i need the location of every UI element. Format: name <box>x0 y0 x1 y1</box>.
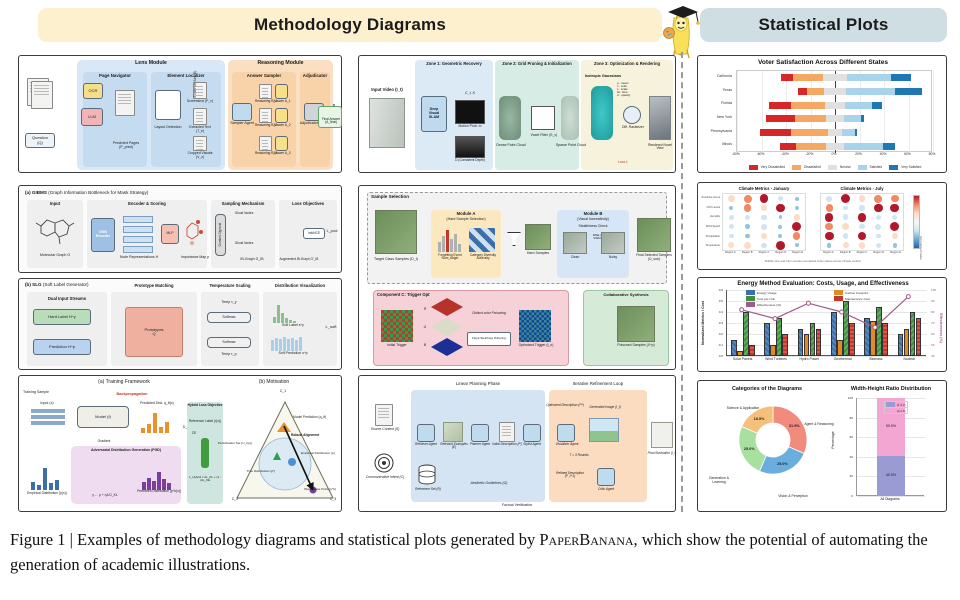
node-retriever-agent <box>417 424 435 442</box>
node-label-node-representations: Node Representations H <box>117 256 161 260</box>
matrix-bubble <box>778 196 783 201</box>
chart-ytick-label: 0.6 <box>719 288 723 292</box>
node-label-optimized-trigger: Optimized Trigger (t_o) <box>515 344 557 348</box>
node-label-camera-intrinsics: C_t, K <box>453 92 487 96</box>
node-diff-rasterizer <box>623 106 641 124</box>
node-label-dense-point-cloud: Dense Point Cloud <box>495 144 527 148</box>
chart-xtick-label: Region D <box>772 251 789 254</box>
matrix-bubble <box>827 243 832 248</box>
gridline <box>884 71 885 153</box>
node-representations-icon <box>123 216 153 254</box>
chart-title-climate-july: Climate Metrics - July <box>818 186 906 191</box>
legend-swatch <box>828 165 837 170</box>
matrix-bubble <box>892 215 897 220</box>
initial-description-icon <box>499 422 515 442</box>
module-b-item-noisy: Noisy <box>599 256 627 259</box>
chart-ylabel-ratio: Percentage <box>832 413 836 467</box>
label-hybrid-loss-objective: Hybrid Loss Objective <box>187 404 223 407</box>
module-b-subtitle: (Visual Insensitivity) <box>557 218 629 222</box>
table-row <box>845 102 872 109</box>
chart-legend-energy: Energy UsageCarbon FootprintCost per Uni… <box>746 290 916 304</box>
matrix-bubble <box>728 242 734 248</box>
node-reasoning-3-icon <box>259 136 272 151</box>
bar-value-label: 59.5% <box>877 424 904 428</box>
node-label-target-class-samples: Target Class Samples (D_t) <box>369 258 423 262</box>
chart-ytick-label: 0.2 <box>719 332 723 336</box>
matrix-bubble <box>876 215 881 220</box>
chart-panel-voter-satisfaction: Voter Satisfaction Across Different Stat… <box>697 55 947 173</box>
chart-title-ratio: Width-Height Ratio Distribution <box>836 386 946 392</box>
node-label-loss-soft: L_soft <box>321 325 341 329</box>
legend-label: Very Satisfied <box>901 165 921 169</box>
simplex-label-empirical-distribution: Empirical Distribution (p) <box>301 452 342 455</box>
chart-xtick-label: Nuclear <box>893 357 926 366</box>
soft-prediction-histogram-icon <box>269 331 317 351</box>
gridline <box>811 71 812 153</box>
chart-xtick-label: Solar Panels <box>726 357 759 366</box>
diagram-panel-final-answer-box: Final Answer (A_final) <box>318 106 342 128</box>
module-a-item-diversity: Category Diversity Adversity <box>467 254 499 261</box>
matrix-bubble <box>793 232 800 239</box>
reference-set-db-icon <box>417 464 437 486</box>
legend-swatch <box>834 290 843 295</box>
legend-label: Neutral <box>840 165 851 169</box>
matrix-bubble <box>874 204 882 212</box>
node-label-diff-rasterizer: Diff. Rasterizer <box>617 126 649 129</box>
node-answer-2 <box>275 108 288 123</box>
matrix-bubble <box>761 205 767 211</box>
chart-xtick-label: Region C <box>756 251 773 254</box>
perturbed-distribution-histogram-icon <box>141 468 177 490</box>
node-prototypes: PrototypesQ <box>125 307 183 357</box>
chart-ylabels-voter: CaliforniaTexasFloridaNew YorkPennsylvan… <box>698 70 734 152</box>
subzone-label-answer-sampler: Answer Sampler <box>232 74 296 79</box>
gridline <box>737 71 738 153</box>
matrix-bubble <box>776 204 785 213</box>
subzone-label-adjudicator: Adjudicator <box>298 74 332 79</box>
matrix-bubble <box>842 223 849 230</box>
node-label-voxel-filter: Voxel Filter (S_v) <box>527 134 561 138</box>
node-label-final-selected-samples: Final Selected Samples (D_sub) <box>631 254 676 261</box>
node-label-cropped-visuals: Cropped Visuals (V_c) <box>185 152 215 159</box>
table-row <box>828 129 843 136</box>
legend-item: Carbon Footprint <box>834 290 868 295</box>
legend-label: Satisfied <box>870 165 883 169</box>
chart-ytick-label: Pennsylvania <box>711 129 732 133</box>
chart-xlabels-voter: -80%-60%-40%-20%0%20%40%60%80% <box>736 152 932 162</box>
legend-label: Carbon Footprint <box>845 291 868 295</box>
pie-value-label: 18.5% <box>745 417 773 421</box>
matrix-bubble <box>876 243 882 249</box>
label-gradient: Gradient <box>91 440 117 443</box>
node-answer-1 <box>275 84 288 99</box>
diagram-panel-document-qa: Lens Module Reasoning Module Page Naviga… <box>18 55 342 173</box>
chart-plot-area-voter <box>736 70 932 152</box>
chart-ytick-label: Texas <box>723 88 732 92</box>
importance-map-icon <box>183 214 205 254</box>
table-row <box>824 88 846 95</box>
matrix-bubble <box>778 225 782 229</box>
chart-xtick-label: Hydro Power <box>793 357 826 366</box>
simplex-label-worst-case-point: Worst-Case Point (p^k) <box>301 488 339 491</box>
zone-label-linear-planning: Linear Planning Phase <box>411 382 545 387</box>
optimized-trigger-icon <box>519 310 551 342</box>
table-row <box>861 115 865 122</box>
node-label-training-sample: Training Sample <box>23 391 69 395</box>
simplex-vertex-c1: C_1 <box>275 390 291 394</box>
matrix-bubble <box>728 195 735 202</box>
chart-xlabels-climate-left: Region ARegion BRegion CRegion DRegion E <box>722 251 806 259</box>
legend-swatch <box>746 302 755 307</box>
chart-yticks-ratio: 020406080100 <box>838 395 855 497</box>
chart-xtick-label: Region A <box>820 251 837 254</box>
legend-label: Effectiveness (%) <box>757 303 781 307</box>
channel-label-g: G <box>421 326 429 330</box>
table-row <box>842 129 854 136</box>
panel4-title-bold: (b) SLG <box>25 282 42 287</box>
node-label-loss: Loss L <box>611 161 635 165</box>
source-context-icon <box>375 404 393 426</box>
table-row <box>760 129 791 136</box>
relevant-examples-icon <box>443 422 463 442</box>
table-row <box>769 102 791 109</box>
node-stylist-agent <box>523 424 541 442</box>
final-selected-samples-icon <box>637 218 671 252</box>
diagram-panel-adversarial-training: (a) Training Framework (b) Motivation Tr… <box>18 375 342 512</box>
node-reasoning-1-icon <box>259 84 272 99</box>
channel-label-b: B <box>421 344 429 348</box>
module-a-subtitle: (Hard Sample Selection) <box>431 218 501 222</box>
label-rounds: T = 3 Rounds <box>565 454 593 457</box>
node-label-input-video: Input Video (I_t) <box>365 88 409 92</box>
node-hard-label: Hard Label H^y <box>33 309 91 325</box>
legend-item: Effectiveness (%) <box>746 302 781 307</box>
chart-footnote-climate: Bubble size and color encode normalized … <box>722 260 904 263</box>
gaussian-param-list: μ : meanc : colors : scaleΔt : timeα : o… <box>617 82 647 97</box>
matrix-bubble <box>859 242 866 249</box>
chart-donut-labels: 31.5%25.0%25.0%18.5%Agent & ReasoningVis… <box>698 395 838 507</box>
chart-ytick-label: 80 <box>850 416 853 420</box>
chart-ytick-label: New York <box>717 115 732 119</box>
node-label-reference-set: Reference Set (R) <box>411 488 445 491</box>
table-row <box>823 74 848 81</box>
node-gnn-encoder: GNNEncoder <box>91 218 115 252</box>
node-label-soft-label: Soft Label s^y <box>267 324 319 328</box>
diagram-panel-sample-selection: Sample Selection Target Class Samples (D… <box>358 185 676 370</box>
zone-label-reasoning-module: Reasoning Module <box>228 61 333 66</box>
node-planner-agent <box>471 424 489 442</box>
chart-ytick-label: 0.5 <box>719 299 723 303</box>
table-row <box>798 88 807 95</box>
diagram-panel-gibms: (a) GIBMS (Graph Information Bottleneck … <box>18 185 342 273</box>
matrix-bubble <box>859 205 864 210</box>
matrix-bubble <box>825 232 834 241</box>
node-label-answer-3: Answer A_3 <box>273 152 291 155</box>
matrix-bubble <box>729 234 734 239</box>
banner-statistical-plots: Statistical Plots <box>700 8 947 42</box>
legend-swatch <box>749 165 758 170</box>
chart-xlabel-ratio: All Diagrams <box>856 498 924 502</box>
chart-xtick-label: Geothermal <box>826 357 859 366</box>
table-row <box>846 88 895 95</box>
table-row <box>807 88 824 95</box>
table-row <box>844 143 883 150</box>
matrix-bubble <box>761 233 767 239</box>
simplex-vertex-c2: C_2 <box>227 498 243 502</box>
node-label-ghost-nodes-top: Ghost Nodes <box>231 212 257 215</box>
table-row <box>855 129 857 136</box>
chart-xtick-label: Region A <box>722 251 739 254</box>
chart-matrix-left <box>722 193 806 251</box>
chart-xtick-label: Region E <box>789 251 806 254</box>
node-label-sampler-agent: Sampler Agent <box>226 122 258 126</box>
legend-swatch <box>792 165 801 170</box>
node-label-temp-p: Temp τ_p <box>209 353 249 357</box>
channel-label-r: R <box>421 308 429 312</box>
trigger-opt-title: Component C: Trigger Opt <box>377 293 463 297</box>
gridline <box>933 71 934 153</box>
pie-category-label: Vision & Perception <box>776 495 810 499</box>
chart-ytick-label: 0.3 <box>719 321 723 325</box>
module-b-title: Module B <box>557 212 629 216</box>
node-softmax-1: Softmax <box>207 312 251 323</box>
node-label-layout-detection: Layout Detection <box>151 126 185 130</box>
matrix-bubble <box>729 206 733 210</box>
chart-xtick-label: 40% <box>874 152 892 156</box>
node-label-initial-trigger: Initial Trigger <box>377 344 417 348</box>
node-label-optimized-description: Optimized Description (P*) <box>543 404 587 407</box>
chart-ylabels-climate: Sunshine HoursCO2 LevelsHumidityWind Spe… <box>698 193 721 251</box>
caption-text-comma: , <box>634 530 638 549</box>
label-pgd-update: y ← p + ηΔ D_KL <box>73 494 137 497</box>
gridline <box>762 71 763 153</box>
matrix-bubble <box>729 224 734 229</box>
table-row <box>891 74 911 81</box>
chart-ytick-label: 0.0 <box>719 354 723 358</box>
node-label-final-answer: Final Answer (A_final) <box>319 118 342 125</box>
table-row <box>847 74 891 81</box>
matrix-bubble <box>892 233 898 239</box>
legend-item: Dissatisfied <box>792 162 821 172</box>
table-row <box>781 74 793 81</box>
matrix-bubble <box>843 242 849 248</box>
category-diversity-matrix-icon <box>469 228 495 252</box>
collaborative-synthesis-title: Collaborative Synthesis <box>583 293 669 297</box>
table-row <box>826 115 843 122</box>
matrix-bubble <box>745 215 750 220</box>
node-label-predicted-pages: Predicted Pages (P_pred) <box>109 142 143 150</box>
chart-ytick-label-right: 80 <box>931 310 934 314</box>
hard-samples-icon <box>525 224 551 250</box>
node-reasoning-2-icon <box>259 108 272 123</box>
matrix-bubble <box>776 241 785 250</box>
node-label-source-context: Source Context (S) <box>363 428 407 432</box>
matrix-bubble <box>792 222 801 231</box>
zone-label-iterative-refinement: Iterative Refinement Loop <box>549 382 647 387</box>
module-a-title: Module A <box>431 212 501 216</box>
chart-ytick-label: 60 <box>850 435 853 439</box>
matrix-bubble <box>890 204 899 213</box>
node-deep-visual-slam: DeepVisualSLAM <box>421 96 447 132</box>
chart-xtick-label: 20% <box>850 152 868 156</box>
node-label-importance-map: Importance Map p <box>179 256 211 260</box>
label-floyd-steinberg: Floyd-Steinberg Dithering <box>467 332 511 346</box>
matrix-bubble <box>825 223 833 231</box>
table-row <box>872 102 882 109</box>
subzone-label-page-navigator: Page Navigator <box>83 74 147 79</box>
legend-swatch <box>834 296 843 301</box>
chart-xtick-label: Biomass <box>859 357 892 366</box>
stage-label-temperature-scaling: Temperature Scaling <box>199 284 261 288</box>
legend-label: [2,2.5) <box>897 409 906 413</box>
figure-container: Methodology Diagrams Statistical Plots L… <box>0 0 960 522</box>
chart-ytick-label-right: 40 <box>931 354 934 358</box>
table-row <box>796 143 827 150</box>
matrix-bubble <box>795 243 799 247</box>
node-prediction: Prediction H^p <box>33 339 91 355</box>
label-adversarial-generation: Adversarial Distribution Generation (PGD… <box>73 449 179 453</box>
chart-ytick-label: 0.1 <box>719 343 723 347</box>
panel3-title: (a) GIBMS (Graph Information Bottleneck … <box>25 191 275 196</box>
chart-ytick-label: 0.4 <box>719 310 723 314</box>
node-answer-3 <box>275 136 288 151</box>
table-row <box>791 102 825 109</box>
figure-caption: Figure 1 | Examples of methodology diagr… <box>10 528 954 578</box>
simplex-label-true-distribution: True Distribution (p*) <box>243 470 279 473</box>
matrix-bubble <box>859 224 864 229</box>
chart-xtick-label: Region D <box>870 251 887 254</box>
label-backpropagation: Backpropagation <box>97 392 167 396</box>
node-predicted-pages-icon <box>115 90 135 116</box>
table-row <box>895 88 922 95</box>
simplex-label-model-prediction: Model Prediction (q_θ) <box>293 416 339 419</box>
chart-title-voter-satisfaction: Voter Satisfaction Across Different Stat… <box>698 59 947 66</box>
chart-ytick-label-right: 70 <box>931 321 934 325</box>
matrix-bubble <box>891 195 899 203</box>
node-gaussian-human-icon <box>591 86 613 140</box>
node-label-temp-y: Temp τ_y <box>209 301 249 305</box>
node-visualizer-agent <box>557 424 575 442</box>
node-gumbel-sigmoid: Gumbel-Sigmoid <box>215 214 226 256</box>
node-label-poisoned-samples: Poisoned Samples (X^p) <box>611 344 661 348</box>
node-label-answer-2: Answer A_2 <box>273 124 291 127</box>
legend-swatch <box>746 290 755 295</box>
chart-xtick-label: Region B <box>739 251 756 254</box>
legend-item: Maintenance Cost <box>834 296 870 301</box>
panel5-title-motivation: (b) Motivation <box>219 380 329 385</box>
matrix-bubble <box>745 224 749 228</box>
gridline <box>860 71 861 153</box>
legend-label: Very Dissatisfied <box>761 165 785 169</box>
node-label-aesthetic-guidelines: Aesthetic Guidelines (G) <box>451 482 527 486</box>
node-label-evidence-set: Evidence Set (E) <box>194 55 198 114</box>
stage-label-dual-input-streams: Dual Input Streams <box>27 297 107 301</box>
matrix-bubble <box>843 214 849 220</box>
chart-ytick-label: CO2 Levels <box>706 206 720 209</box>
chart-xtick-label: Region B <box>837 251 854 254</box>
simplex-vertex-c3: C_3 <box>325 498 341 502</box>
chart-xtick-label: Region C <box>854 251 871 254</box>
panel4-title-rest: (Soft Label Generator) <box>43 282 89 287</box>
matrix-bubble <box>875 224 881 230</box>
gridline <box>835 71 836 153</box>
legend-swatch <box>889 165 898 170</box>
label-factual-verification: Factual Verification <box>469 504 565 508</box>
caption-text-part1: Figure 1 | Examples of methodology diagr… <box>10 530 539 549</box>
diagram-panel-slg: (b) SLG (Soft Label Generator) Dual Inpu… <box>18 278 342 370</box>
initial-trigger-icon <box>381 310 413 342</box>
node-softmax-2: Softmax <box>207 337 251 348</box>
table-row <box>793 74 822 81</box>
matrix-bubble <box>761 243 766 248</box>
gridline <box>786 71 787 153</box>
matrix-bubble <box>826 204 833 211</box>
node-motion-prob-icon <box>455 100 485 124</box>
stage-label-distribution-visualization: Distribution Visualization <box>263 284 337 288</box>
subzone-label-element-localizer: Element Localizer <box>151 74 221 79</box>
chart-legend-ratio: [1.5,2)[2,2.5) <box>884 401 924 417</box>
chart-legend-voter: Very DissatisfiedDissatisfiedNeutralSati… <box>724 162 946 172</box>
node-depth-map-icon <box>455 136 485 158</box>
noisy-image-icon <box>601 232 625 254</box>
chart-title-climate-january: Climate Metrics - January <box>720 186 808 191</box>
chart-matrix-right <box>820 193 904 251</box>
matrix-bubble <box>893 243 897 247</box>
table-row <box>825 102 845 109</box>
table-row <box>795 115 827 122</box>
node-dense-point-cloud-icon <box>499 96 521 140</box>
node-rendered-view-icon <box>649 96 671 140</box>
node-label-critic-agent: Critic Agent <box>591 488 621 491</box>
node-ocr: OCR <box>83 83 103 99</box>
node-mlp: MLP <box>161 224 179 244</box>
final-illustration-icon <box>651 422 673 448</box>
chart-ytick-label-right: 50 <box>931 343 934 347</box>
matrix-bubble <box>826 196 832 202</box>
node-label-soft-prediction: Soft Prediction s^p <box>267 352 319 356</box>
table-row <box>766 115 794 122</box>
node-voxel-filter-icon <box>531 106 555 130</box>
section-divider <box>681 52 683 512</box>
node-label-hard-samples: Hard Samples <box>521 252 555 256</box>
node-label-loss-pool: L_pool <box>323 230 341 234</box>
legend-swatch <box>746 296 755 301</box>
simplex-label-robust-alignment: Robust Alignment <box>291 434 337 437</box>
matrix-bubble <box>744 195 752 203</box>
chart-ytick-label: Wind Speed <box>706 225 720 228</box>
soft-label-histogram-icon <box>269 301 317 323</box>
node-label-communicative-intent: Communicative Intent (C) <box>361 476 409 480</box>
zone-label-grid-pruning: Zone 2: Grid Pruning & Initialization <box>495 62 579 66</box>
matrix-bubble <box>890 222 899 231</box>
table-row <box>826 143 843 150</box>
label-distinct-color-poisoning: Distinct-color Poisoning <box>467 312 511 315</box>
poisoned-samples-icon <box>617 306 655 342</box>
chart-ytick-label-right: 60 <box>931 332 934 336</box>
legend-item: [2,2.5) <box>884 407 908 414</box>
matrix-bubble <box>778 234 782 238</box>
generated-image-icon <box>589 418 619 442</box>
node-label-ib-graph: IB-Graph G_IB <box>231 258 273 262</box>
legend-item: Neutral <box>828 162 851 172</box>
input-bars-icon <box>31 409 65 429</box>
node-ce-bar <box>201 438 209 468</box>
node-label-stylist-agent: Stylist Agent <box>517 443 547 446</box>
chart-ytick-label: Precipitation <box>706 235 720 238</box>
pie-category-label: Agent & Reasoning <box>802 423 836 427</box>
node-label-extracted-text: Extracted Text (T_e) <box>185 126 215 133</box>
node-layout-detection <box>155 90 181 120</box>
